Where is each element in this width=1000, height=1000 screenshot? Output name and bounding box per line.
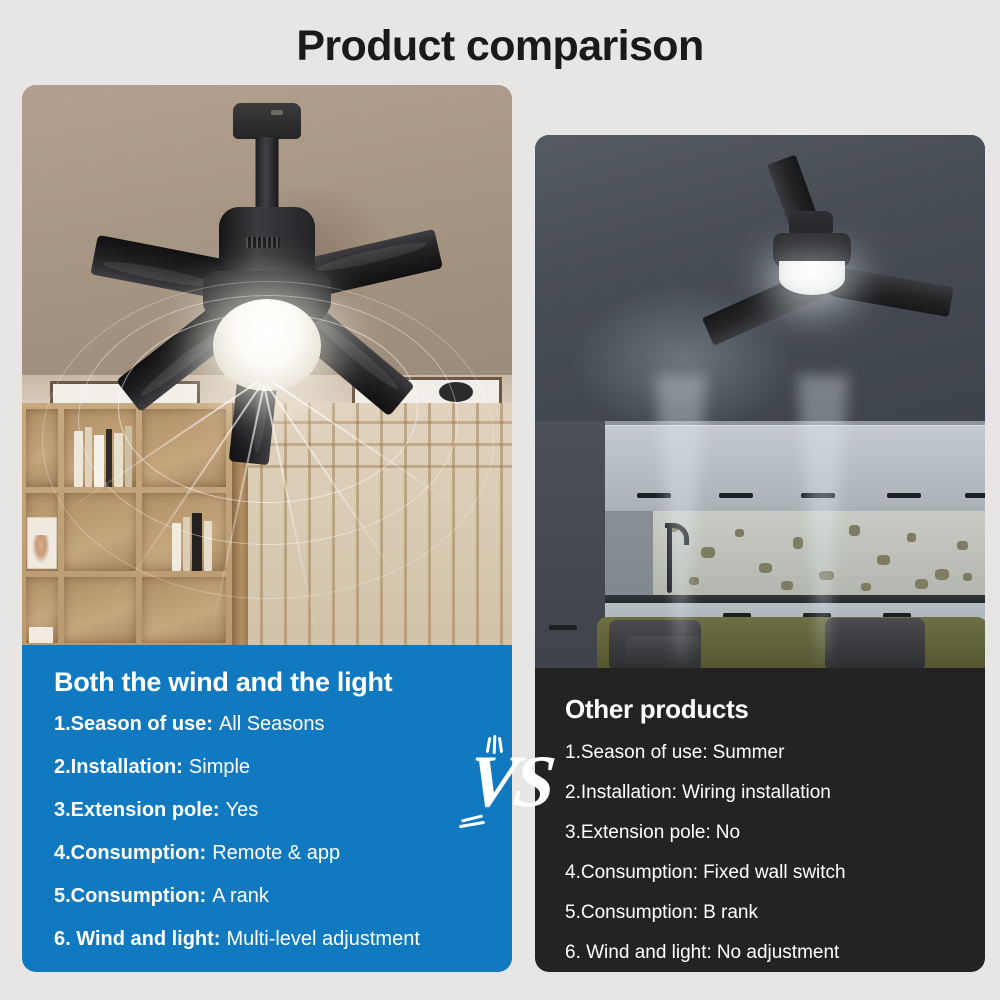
spec-row: 6. Wind and light: Multi-level adjustmen… <box>54 928 512 951</box>
terrazzo-fleck <box>957 541 968 550</box>
fan-led-light-dome <box>779 261 845 295</box>
fan-ceiling-mount <box>233 103 301 139</box>
spec-row: 2.Installation: Simple <box>54 756 512 779</box>
spec-row: 2.Installation: Wiring installation <box>565 782 985 804</box>
spec-label: 2.Installation: <box>54 756 183 779</box>
terrazzo-fleck <box>781 581 793 590</box>
left-spec-panel: Both the wind and the light 1.Season of … <box>22 645 512 972</box>
spec-value: A rank <box>212 885 269 908</box>
spec-value: All Seasons <box>219 713 325 736</box>
fan-mount-indicator <box>271 110 283 115</box>
spec-label: 4.Consumption: <box>565 862 698 884</box>
framed-photo <box>27 517 57 569</box>
terrazzo-fleck <box>907 533 916 542</box>
spec-label: 5.Consumption: <box>565 902 698 924</box>
spec-value: Summer <box>713 742 785 764</box>
terrazzo-fleck <box>861 583 871 591</box>
spec-row: 3.Extension pole: No <box>565 822 985 844</box>
cabinet-handle <box>549 625 577 630</box>
terrazzo-fleck <box>759 563 772 573</box>
terrazzo-fleck <box>915 579 928 589</box>
spec-row: 5.Consumption: B rank <box>565 902 985 924</box>
left-panel-heading: Both the wind and the light <box>54 667 512 698</box>
spec-value: Multi-level adjustment <box>226 928 419 951</box>
shelf-cell <box>26 493 58 571</box>
spec-row: 4.Consumption: Remote & app <box>54 842 512 865</box>
spec-value: Simple <box>189 756 250 779</box>
cabinet-handle <box>719 493 753 498</box>
terrazzo-fleck <box>935 569 949 580</box>
spec-row: 1.Season of use: Summer <box>565 742 985 764</box>
spec-value: No <box>716 822 740 844</box>
right-panel-heading: Other products <box>565 694 985 725</box>
light-beam-left <box>655 375 707 668</box>
left-product-photo <box>22 85 512 645</box>
spec-label: 5.Consumption: <box>54 885 206 908</box>
spec-row: 1.Season of use: All Seasons <box>54 713 512 736</box>
cabinet-handle <box>965 493 985 498</box>
spec-value: No adjustment <box>717 942 840 964</box>
spec-row: 4.Consumption: Fixed wall switch <box>565 862 985 884</box>
ceiling-fan-three-blade <box>695 165 955 365</box>
screen-slat <box>500 403 503 645</box>
book <box>29 627 53 643</box>
cabinet-handle <box>887 493 921 498</box>
spec-label: 4.Consumption: <box>54 842 206 865</box>
spec-value: Remote & app <box>212 842 340 865</box>
fan-downrod <box>256 137 279 213</box>
terrazzo-fleck <box>963 573 972 581</box>
side-wall <box>535 421 605 668</box>
spec-value: B rank <box>703 902 758 924</box>
spec-label: 2.Installation: <box>565 782 677 804</box>
right-product-card: Other products 1.Season of use: Summer 2… <box>535 135 985 972</box>
terrazzo-fleck <box>849 525 860 536</box>
terrazzo-fleck <box>735 529 744 537</box>
portrait-face <box>32 535 50 564</box>
left-product-card: Both the wind and the light 1.Season of … <box>22 85 512 972</box>
spec-value: Fixed wall switch <box>703 862 846 884</box>
spec-row: 6. Wind and light: No adjustment <box>565 942 985 964</box>
spec-row: 5.Consumption: A rank <box>54 885 512 908</box>
spec-value: Wiring installation <box>682 782 831 804</box>
spec-label: 1.Season of use: <box>565 742 708 764</box>
page-title: Product comparison <box>0 22 1000 71</box>
airflow-swirl <box>42 281 494 599</box>
terrazzo-fleck <box>877 555 890 565</box>
light-beam-right <box>797 375 849 668</box>
spec-value: Yes <box>226 799 259 822</box>
shelf-cell <box>26 577 58 643</box>
fan-vent-grille <box>246 237 280 248</box>
spec-row: 3.Extension pole: Yes <box>54 799 512 822</box>
right-product-photo <box>535 135 985 668</box>
spec-label: 3.Extension pole: <box>54 799 220 822</box>
right-spec-panel: Other products 1.Season of use: Summer 2… <box>535 668 985 972</box>
spec-label: 6. Wind and light: <box>54 928 220 951</box>
spec-label: 6. Wind and light: <box>565 942 712 964</box>
spec-label: 3.Extension pole: <box>565 822 711 844</box>
spec-label: 1.Season of use: <box>54 713 213 736</box>
